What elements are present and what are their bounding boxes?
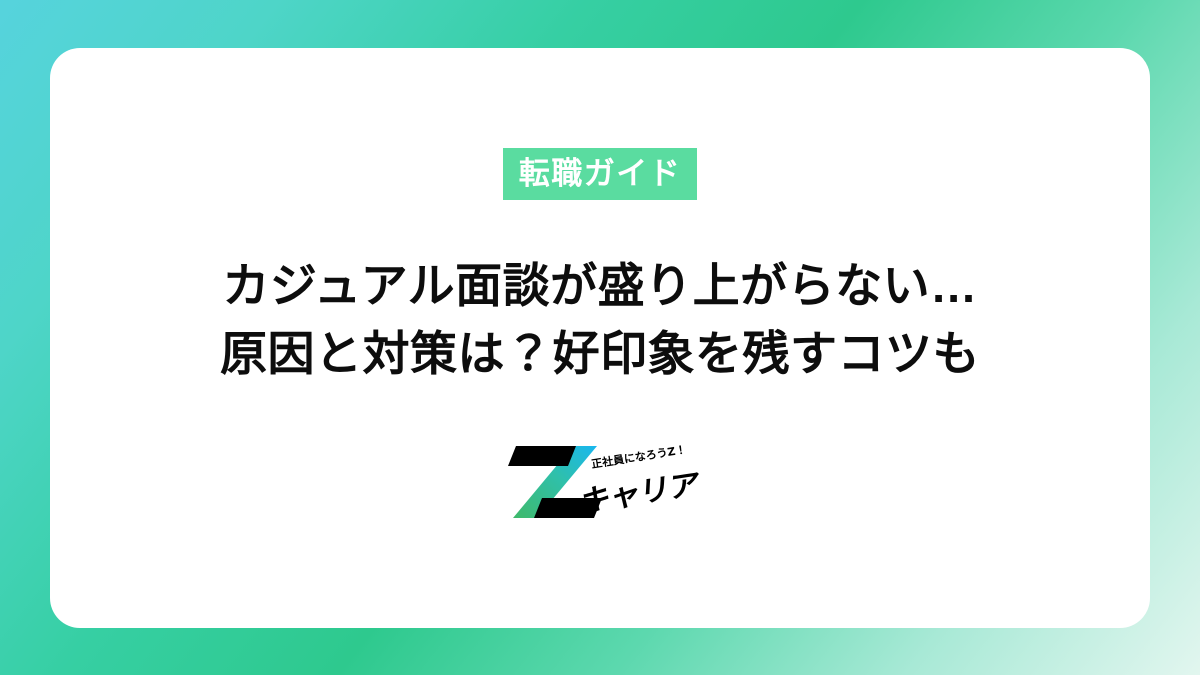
- page-title-line-1: カジュアル面談が盛り上がらない…: [220, 252, 980, 320]
- page-title-line-2: 原因と対策は？好印象を残すコツも: [220, 320, 980, 388]
- content-card: 転職ガイド カジュアル面談が盛り上がらない… 原因と対策は？好印象を残すコツも: [50, 48, 1150, 628]
- z-career-logo-svg: 正社員になろうZ！ キャリア: [500, 436, 700, 528]
- category-badge: 転職ガイド: [503, 148, 698, 200]
- z-mark-top-bar: [508, 446, 576, 466]
- logo-wordmark: キャリア: [579, 468, 699, 520]
- poster-background: 転職ガイド カジュアル面談が盛り上がらない… 原因と対策は？好印象を残すコツも: [0, 0, 1200, 675]
- page-title: カジュアル面談が盛り上がらない… 原因と対策は？好印象を残すコツも: [220, 252, 980, 388]
- z-career-logo: 正社員になろうZ！ キャリア: [500, 436, 700, 528]
- logo-tagline: 正社員になろうZ！: [590, 442, 687, 471]
